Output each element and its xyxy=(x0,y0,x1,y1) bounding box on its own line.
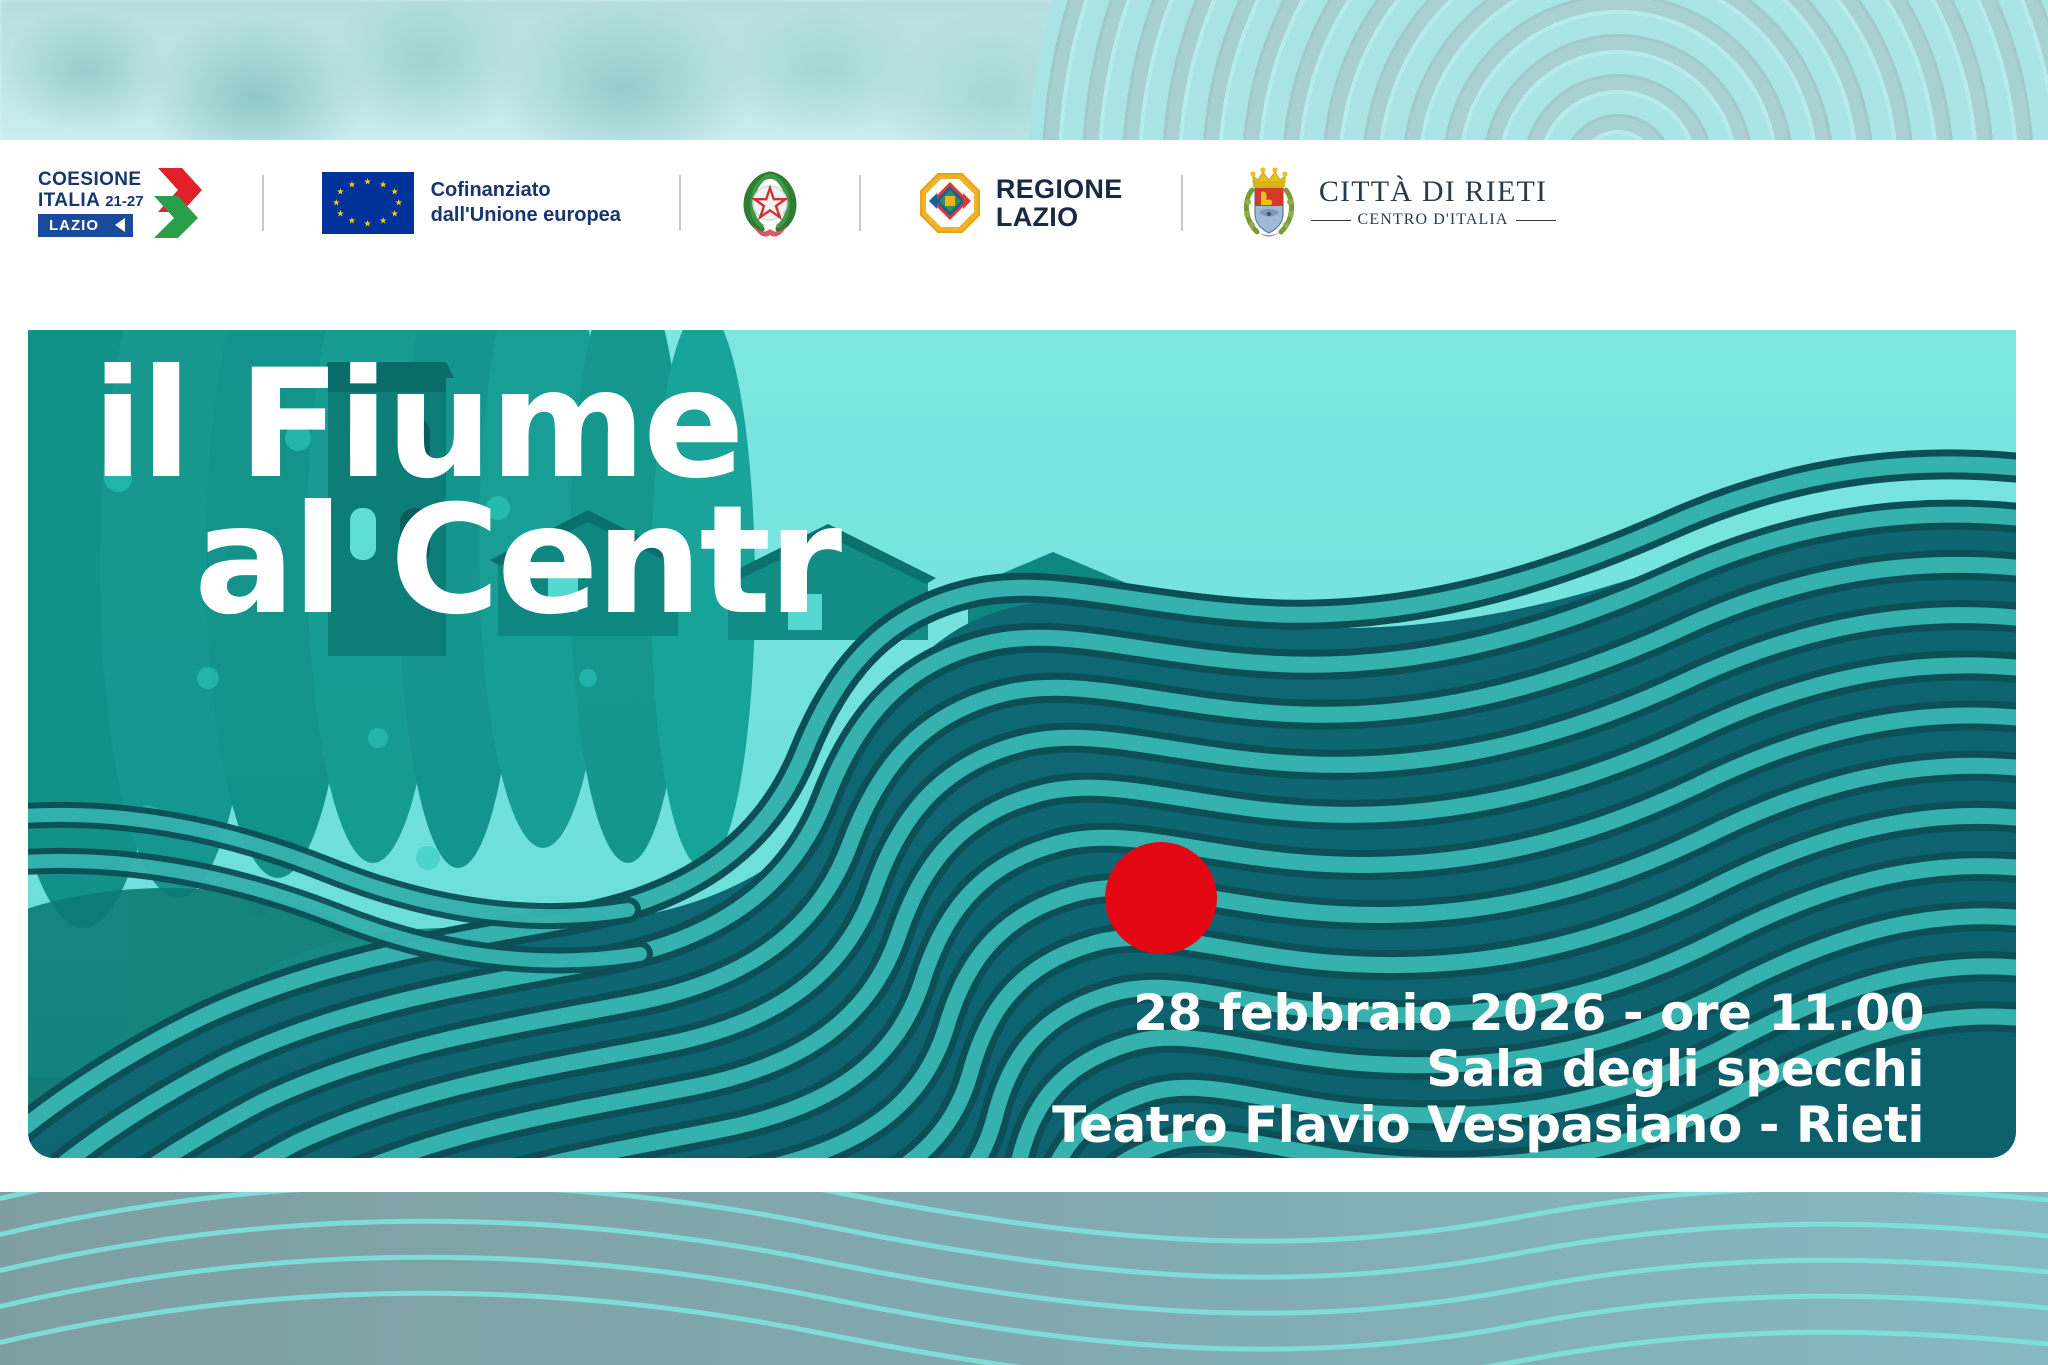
rieti-rule-right xyxy=(1516,220,1556,221)
regione-line1: REGIONE xyxy=(996,175,1123,203)
eu-text-line2: dall'Unione europea xyxy=(431,203,621,228)
event-date-time: 28 febbraio 2026 - ore 11.00 xyxy=(1052,985,1924,1041)
logo-divider-4 xyxy=(1181,175,1183,231)
rieti-line1: CITTÀ DI RIETI xyxy=(1319,177,1547,207)
logo-divider-1 xyxy=(262,175,264,231)
eu-text-line1: Cofinanziato xyxy=(431,178,621,203)
rieti-coat-of-arms-icon xyxy=(1241,164,1297,242)
poster-stage: il Fiume al Centr 28 febbraio 2026 - ore… xyxy=(0,0,2048,1365)
red-circle-accent xyxy=(1105,842,1217,954)
coesione-chevron-icon xyxy=(148,166,204,240)
coesione-line1: COESIONE xyxy=(38,170,144,189)
background-bottom-band xyxy=(0,1185,2048,1365)
rieti-line2-wrap: CENTRO D'ITALIA xyxy=(1311,211,1556,229)
logo-repubblica-italiana xyxy=(739,162,801,244)
eu-flag-icon: ★ ★ ★ ★ ★ ★ ★ ★ ★ ★ ★ ★ xyxy=(322,172,414,234)
coesione-line2: ITALIA xyxy=(38,191,100,210)
poster-card: il Fiume al Centr 28 febbraio 2026 - ore… xyxy=(0,140,2048,1192)
title-line-2: al Centr xyxy=(194,492,839,630)
regione-line2: LAZIO xyxy=(996,203,1123,231)
logo-citta-di-rieti: CITTÀ DI RIETI CENTRO D'ITALIA xyxy=(1241,162,1556,244)
logo-divider-2 xyxy=(679,175,681,231)
regione-lazio-mark-icon xyxy=(919,172,981,234)
coesione-years: 21-27 xyxy=(105,194,143,209)
event-room: Sala degli specchi xyxy=(1052,1041,1924,1097)
logo-regione-lazio: REGIONE LAZIO xyxy=(919,162,1123,244)
event-details: 28 febbraio 2026 - ore 11.00 Sala degli … xyxy=(1052,985,1924,1153)
poster-title: il Fiume al Centr xyxy=(92,356,839,630)
logo-coesione-italia: COESIONE ITALIA 21-27 LAZIO xyxy=(38,162,204,244)
background-bottom-waves xyxy=(0,1185,2048,1365)
logo-divider-3 xyxy=(859,175,861,231)
logo-european-union: ★ ★ ★ ★ ★ ★ ★ ★ ★ ★ ★ ★ xyxy=(322,162,621,244)
event-venue: Teatro Flavio Vespasiano - Rieti xyxy=(1052,1097,1924,1153)
funding-logos-header: COESIONE ITALIA 21-27 LAZIO xyxy=(0,140,2048,330)
rieti-line2: CENTRO D'ITALIA xyxy=(1358,211,1509,229)
republic-emblem-icon xyxy=(739,167,801,239)
coesione-region-badge: LAZIO xyxy=(38,214,133,237)
logo-row: COESIONE ITALIA 21-27 LAZIO xyxy=(38,162,1556,244)
rieti-rule-left xyxy=(1311,220,1351,221)
